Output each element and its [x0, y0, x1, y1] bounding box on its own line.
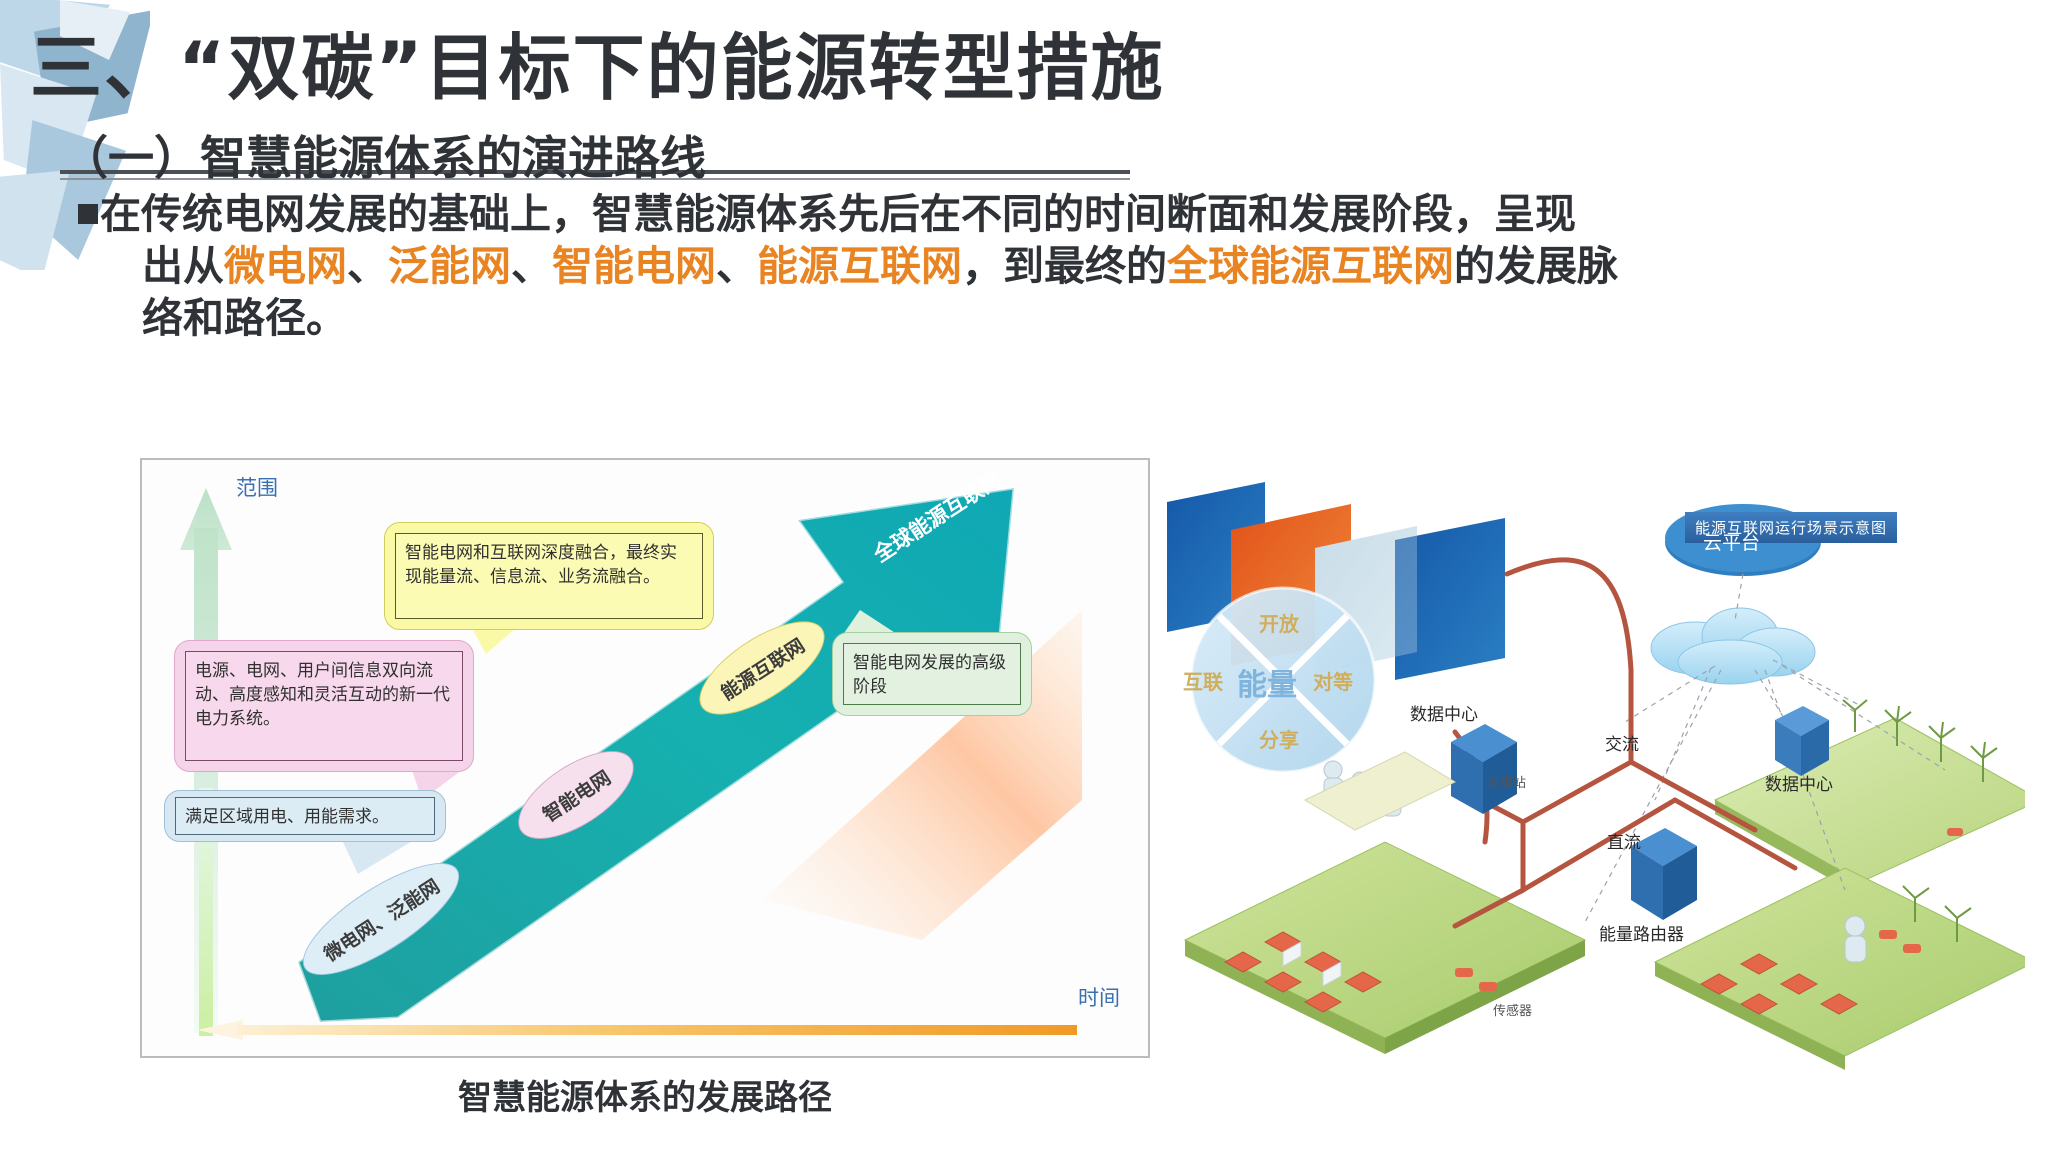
- body-bullet-block: 在传统电网发展的基础上，智慧能源体系先后在不同的时间断面和发展阶段，呈现 出从微…: [100, 188, 1900, 344]
- section-subtitle: （一）智慧能源体系的演进路线: [62, 122, 706, 188]
- wheel-label-interconnect: 互联: [1183, 666, 1223, 695]
- scene-vector-art: [1155, 470, 2025, 1070]
- callout-pink: 电源、电网、用户间信息双向流动、高度感知和灵活互动的新一代电力系统。: [174, 640, 474, 772]
- body-line2-mid: ，到最终的: [962, 242, 1167, 290]
- diagram-caption: 智慧能源体系的发展路径: [140, 1070, 1150, 1119]
- term-energy-internet: 能源互联网: [757, 242, 962, 290]
- label-energy-router: 能量路由器: [1599, 920, 1684, 945]
- label-cloud-platform: 云平台: [1703, 528, 1760, 555]
- label-dc: 直流: [1607, 828, 1641, 853]
- sep-2: 、: [511, 242, 552, 290]
- label-data-center-2: 数据中心: [1765, 770, 1833, 795]
- axis-label-time: 时间: [1078, 982, 1120, 1012]
- body-line-1: 在传统电网发展的基础上，智慧能源体系先后在不同的时间断面和发展阶段，呈现: [100, 188, 1900, 240]
- label-data-center-1: 数据中心: [1410, 700, 1478, 725]
- callout-blue-text: 满足区域用电、用能需求。: [175, 797, 435, 835]
- callout-green-text: 智能电网发展的高级阶段: [843, 643, 1021, 705]
- callout-yellow-text: 智能电网和互联网深度融合，最终实现能量流、信息流、业务流融合。: [395, 533, 703, 619]
- label-substation: 变电站: [1487, 772, 1526, 791]
- label-ac: 交流: [1605, 730, 1639, 755]
- sep-3: 、: [716, 242, 757, 290]
- wheel-label-share: 分享: [1259, 724, 1299, 753]
- term-smart-grid: 智能电网: [552, 242, 716, 290]
- evolution-path-diagram: 范围 时间 微电网、泛能网: [140, 458, 1150, 1058]
- callout-tail-yellow: [472, 628, 516, 654]
- body-line-2: 出从微电网、泛能网、智能电网、能源互联网，到最终的全球能源互联网的发展脉: [100, 240, 1900, 292]
- term-pan-energy-network: 泛能网: [388, 242, 511, 290]
- label-sensor-channel: 传感器: [1493, 1000, 1532, 1019]
- callout-tail-blue: [342, 840, 414, 874]
- body-line-3: 络和路径。: [100, 292, 1900, 344]
- wheel-center-energy: 能量: [1237, 660, 1297, 704]
- body-line2-suffix: 的发展脉: [1454, 242, 1618, 290]
- body-line2-prefix: 出从: [142, 242, 224, 290]
- callout-pink-text: 电源、电网、用户间信息双向流动、高度感知和灵活互动的新一代电力系统。: [185, 651, 463, 761]
- wheel-label-open: 开放: [1259, 608, 1299, 637]
- page-title: 三、“双碳”目标下的能源转型措施: [30, 8, 1130, 128]
- callout-yellow: 智能电网和互联网深度融合，最终实现能量流、信息流、业务流融合。: [384, 522, 714, 630]
- sep-1: 、: [347, 242, 388, 290]
- term-microgrid: 微电网: [224, 242, 347, 290]
- term-global-energy-internet: 全球能源互联网: [1167, 242, 1454, 290]
- bullet-square-icon: [78, 204, 98, 224]
- body-paragraph: 在传统电网发展的基础上，智慧能源体系先后在不同的时间断面和发展阶段，呈现 出从微…: [100, 188, 1900, 344]
- callout-green: 智能电网发展的高级阶段: [832, 632, 1032, 716]
- energy-internet-scene-illustration: 能源互联网运行场景示意图 云平台 数据中心 数据中心 变电站 交流 直流 能量路…: [1155, 470, 2025, 1070]
- callout-blue: 满足区域用电、用能需求。: [164, 790, 446, 842]
- wheel-label-peer: 对等: [1313, 666, 1353, 695]
